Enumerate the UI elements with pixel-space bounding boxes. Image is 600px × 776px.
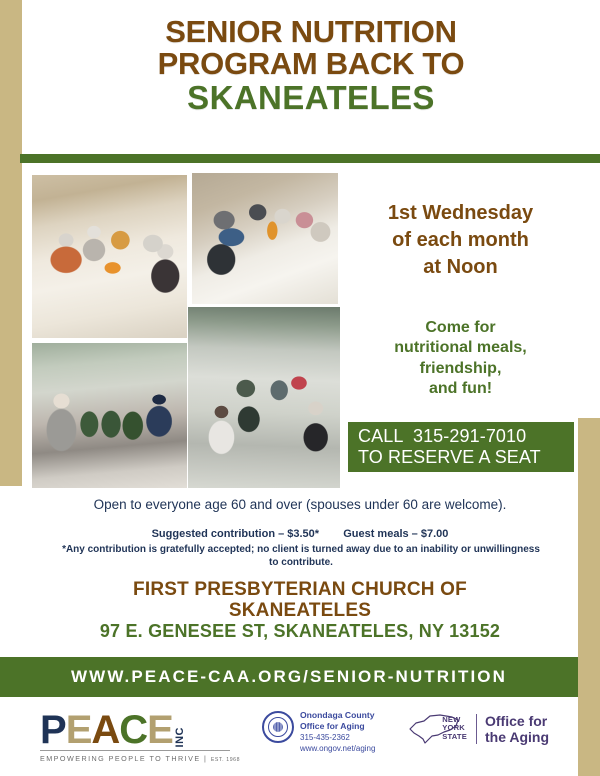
title-line-2: PROGRAM BACK TO: [22, 48, 600, 80]
peace-letter-a: A: [91, 712, 119, 748]
suggested-contribution: Suggested contribution – $3.50*: [152, 528, 319, 540]
call-reserve-line: TO RESERVE A SEAT: [358, 447, 574, 468]
nysofa-logo-divider: [476, 714, 477, 744]
peace-tagline-text: EMPOWERING PEOPLE TO THRIVE: [40, 754, 201, 763]
venue-name-line-2: SKANEATELES: [22, 600, 578, 621]
eligibility-line: Open to everyone age 60 and over (spouse…: [22, 497, 578, 512]
onondaga-line-2: Office for Aging: [300, 721, 375, 732]
peace-letter-e1: E: [66, 712, 92, 748]
title-line-1: SENIOR NUTRITION: [22, 16, 600, 48]
peace-inc-logo: P E A C E INC EMPOWERING PEOPLE TO THRIV…: [40, 708, 235, 763]
onondaga-county-seal-icon: [262, 711, 294, 743]
venue-name: FIRST PRESBYTERIAN CHURCH OF SKANEATELES: [22, 579, 578, 622]
peace-letter-p: P: [40, 712, 66, 748]
logo-strip: P E A C E INC EMPOWERING PEOPLE TO THRIV…: [0, 700, 578, 776]
page-title: SENIOR NUTRITION PROGRAM BACK TO SKANEAT…: [22, 16, 600, 115]
peace-letter-e2: E: [147, 712, 173, 748]
invitation-block: Come for nutritional meals, friendship, …: [348, 318, 573, 399]
call-phone-line: CALL 315-291-7010: [358, 426, 574, 447]
title-line-3: SKANEATELES: [22, 79, 600, 115]
nys-office-for-aging-logo: NEW YORK STATE Office for the Aging: [406, 712, 556, 746]
contribution-disclaimer: *Any contribution is gratefully accepted…: [62, 544, 540, 570]
peace-wordmark: P E A C E INC: [40, 708, 235, 748]
peace-established-year: EST. 1968: [211, 757, 240, 763]
onondaga-website[interactable]: www.ongov.net/aging: [300, 743, 375, 754]
office-for-the-aging-label: Office for the Aging: [485, 713, 549, 745]
ofa-line-1: Office for: [485, 713, 549, 729]
invitation-line-4: and fun!: [348, 379, 573, 399]
website-url-link[interactable]: WWW.PEACE-CAA.ORG/SENIOR-NUTRITION: [0, 657, 578, 697]
peace-tagline-separator: |: [204, 754, 207, 763]
peace-inc-label: INC: [175, 727, 185, 747]
photo-seniors-dining-hall: [32, 175, 187, 338]
ofa-line-2: the Aging: [485, 729, 549, 745]
venue-address: 97 E. GENESEE ST, SKANEATELES, NY 13152: [22, 621, 578, 642]
onondaga-line-1: Onondaga County: [300, 710, 375, 721]
new-york-state-label: NEW YORK STATE: [442, 716, 467, 741]
schedule-block: 1st Wednesday of each month at Noon: [348, 200, 573, 280]
schedule-line-1: 1st Wednesday: [348, 200, 573, 227]
header-divider-bar: [20, 154, 600, 163]
guest-meal-price: Guest meals – $7.00: [343, 528, 448, 540]
photo-community-meal-pavilion: [188, 307, 340, 488]
new-york-state-map-icon: NEW YORK STATE: [406, 712, 468, 746]
schedule-line-2: of each month: [348, 227, 573, 254]
ny-state-line-3: STATE: [442, 733, 467, 741]
peace-tagline: EMPOWERING PEOPLE TO THRIVE | EST. 1968: [40, 754, 235, 763]
right-accent-bar: [578, 418, 600, 776]
call-to-reserve-box[interactable]: CALL 315-291-7010 TO RESERVE A SEAT: [348, 422, 574, 472]
onondaga-county-logo: Onondaga County Office for Aging 315-435…: [262, 710, 392, 754]
peace-letter-c: C: [119, 712, 147, 748]
invitation-line-3: friendship,: [348, 359, 573, 379]
invitation-line-2: nutritional meals,: [348, 338, 573, 358]
onondaga-phone: 315-435-2362: [300, 732, 375, 743]
contribution-line: Suggested contribution – $3.50* Guest me…: [22, 528, 578, 540]
invitation-line-1: Come for: [348, 318, 573, 338]
photo-volunteers-serving: [32, 343, 187, 488]
venue-name-line-1: FIRST PRESBYTERIAN CHURCH OF: [22, 579, 578, 600]
photo-seniors-at-table: [192, 173, 338, 304]
left-accent-bar: [0, 0, 22, 486]
schedule-line-3: at Noon: [348, 254, 573, 281]
